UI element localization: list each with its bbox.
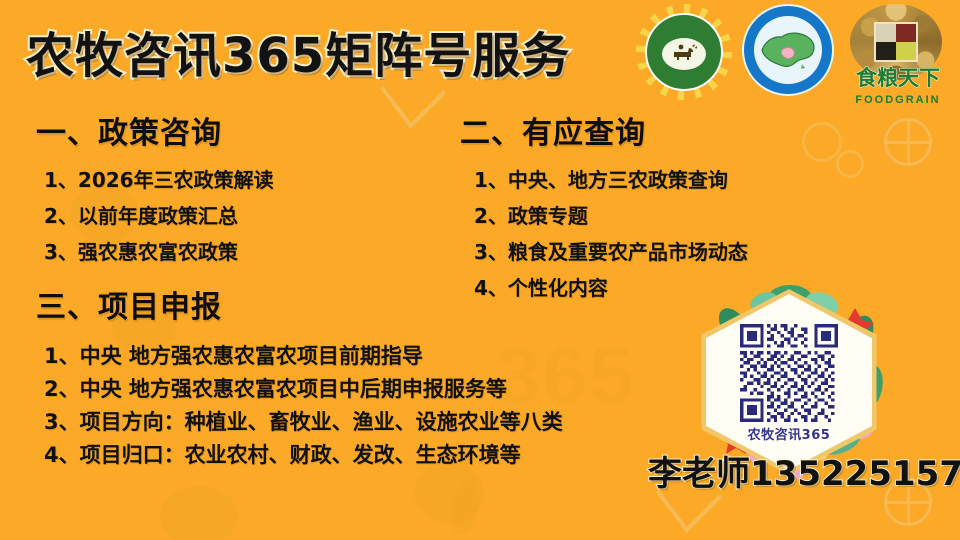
watermark-blob [160, 486, 238, 540]
watermark-corn-icon [447, 478, 484, 536]
list-item: 3、粮食及重要农产品市场动态 [474, 234, 912, 270]
logo-foodgrain: 食粮天下 FOODGRAIN [844, 4, 952, 108]
list-item: 3、项目方向：种植业、畜牧业、渔业、设施农业等八类 [44, 406, 630, 439]
section-item-list: 1、2026年三农政策解读 2、以前年度政策汇总 3、强农惠农富农政策 [30, 162, 450, 270]
section-heading: 一、政策咨询 [36, 108, 450, 152]
china-map-icon [756, 24, 820, 78]
list-item: 2、政策专题 [474, 198, 912, 234]
section-heading: 三、项目申报 [36, 282, 630, 326]
list-item: 2、以前年度政策汇总 [44, 198, 450, 234]
section-response-query: 二、有应查询 1、中央、地方三农政策查询 2、政策专题 3、粮食及重要农产品市场… [452, 108, 912, 306]
list-item: 1、中央 地方强农惠农富农项目前期指导 [44, 340, 630, 373]
qr-code-icon[interactable] [740, 324, 838, 422]
list-item: 1、2026年三农政策解读 [44, 162, 450, 198]
poster-canvas: 365 农牧咨讯365矩阵号服务 [0, 0, 960, 540]
list-item: 3、强农惠农富农政策 [44, 234, 450, 270]
section-item-list: 1、中央 地方强农惠农富农项目前期指导 2、中央 地方强农惠农富农项目中后期申报… [30, 340, 630, 472]
logo-cattle-badge [636, 4, 732, 100]
grain-quad-icon [874, 22, 918, 62]
section-project-declaration: 三、项目申报 1、中央 地方强农惠农富农项目前期指导 2、中央 地方强农惠农富农… [30, 282, 630, 472]
section-heading: 二、有应查询 [460, 108, 912, 152]
grain-quad-cell [876, 42, 896, 60]
logo-china-map-badge [742, 4, 834, 96]
list-item: 4、项目归口：农业农村、财政、发改、生态环境等 [44, 439, 630, 472]
cattle-icon [671, 43, 697, 61]
poster-header: 农牧咨讯365矩阵号服务 [0, 0, 960, 108]
qr-label: 农牧咨讯365 [706, 424, 872, 443]
logo-foodgrain-name: 食粮天下 [844, 62, 952, 92]
logo-foodgrain-subtitle: FOODGRAIN [844, 94, 952, 106]
list-item: 2、中央 地方强农惠农富农项目中后期申报服务等 [44, 373, 630, 406]
logo-row: 食粮天下 FOODGRAIN [636, 4, 952, 108]
contact-info[interactable]: 李老师13522515725 [648, 446, 960, 495]
section-policy-consulting: 一、政策咨询 1、2026年三农政策解读 2、以前年度政策汇总 3、强农惠农富农… [30, 108, 450, 270]
green-disc [645, 13, 723, 91]
page-title: 农牧咨讯365矩阵号服务 [26, 16, 570, 86]
list-item: 1、中央、地方三农政策查询 [474, 162, 912, 198]
grain-quad-cell [896, 42, 916, 60]
grain-quad-cell [896, 24, 916, 42]
grain-quad-cell [876, 24, 896, 42]
